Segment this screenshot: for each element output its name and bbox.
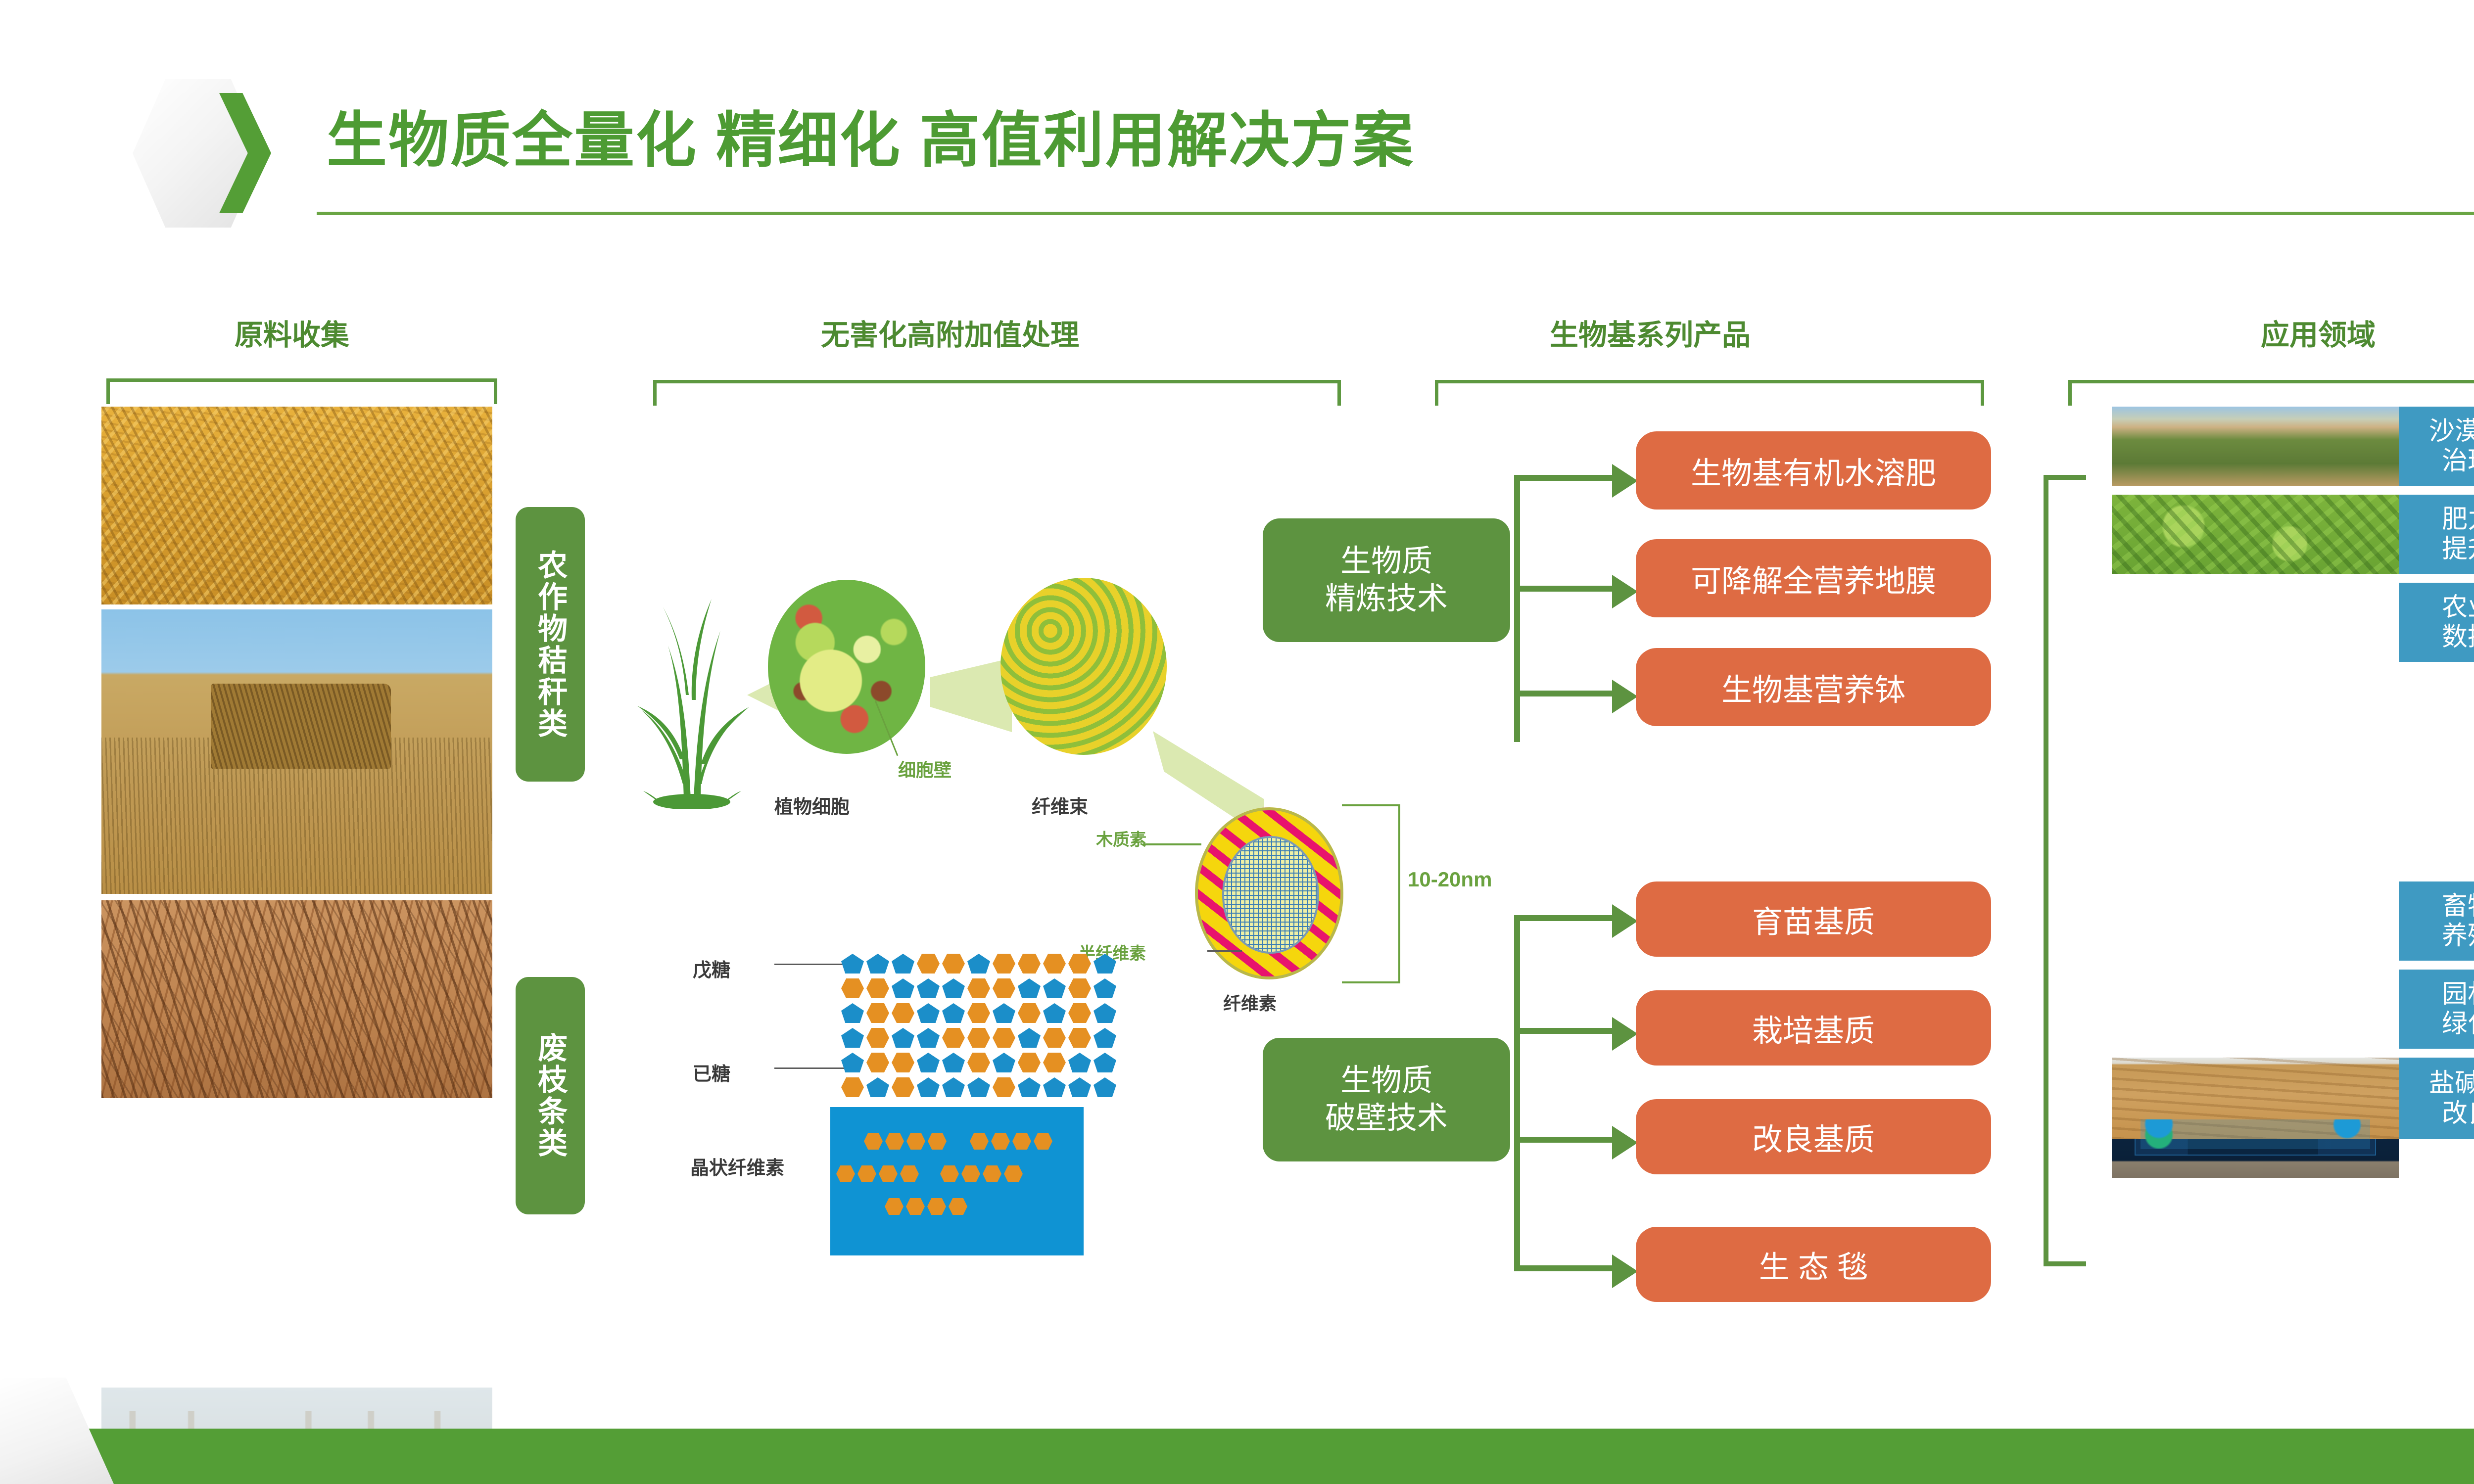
connector-branch-5	[1514, 1028, 1613, 1034]
connector-branch-3	[1514, 691, 1613, 696]
label-cell-wall: 细胞壁	[898, 756, 952, 782]
feedstock-label-branches: 废枝条类	[516, 977, 585, 1214]
feedstock-label-straw: 农作物秸秆类	[516, 507, 585, 782]
application-tag-desert[interactable]: 沙漠化 治理	[2399, 407, 2474, 486]
hexose-leader-line	[774, 1067, 849, 1069]
hemicellulose-leader-line	[1207, 950, 1242, 952]
arrow-head-4	[1612, 904, 1638, 938]
fiber-bundle-illustration	[1000, 578, 1167, 755]
product-pill-7[interactable]: 生 态 毯	[1636, 1227, 1991, 1302]
photo-chopped-straw	[101, 407, 492, 604]
application-tag-data[interactable]: 农业 数据	[2399, 583, 2474, 662]
section-header-apps: 应用领域	[2165, 312, 2472, 353]
plant-cell-illustration	[768, 580, 925, 754]
arrow-head-5	[1612, 1017, 1638, 1051]
tech-box-refining[interactable]: 生物质 精炼技术	[1263, 518, 1510, 642]
label-fiber-bundle: 纤维束	[1032, 791, 1088, 819]
label-plant-cell: 植物细胞	[774, 791, 850, 819]
arrow-head-7	[1612, 1254, 1638, 1288]
connector-branch-2	[1514, 586, 1613, 592]
sugar-chain-row	[841, 954, 1116, 974]
section-bracket-process	[653, 380, 1341, 406]
connector-branch-7	[1514, 1265, 1613, 1271]
sugar-chain-row	[841, 978, 1116, 998]
title-divider	[317, 212, 2474, 215]
label-hexose: 已糖	[693, 1059, 730, 1086]
zoom-cone-2	[930, 658, 1012, 732]
app-tag-line2: 绿化	[2442, 1009, 2474, 1039]
application-tag-saline[interactable]: 盐碱地 改良	[2399, 1058, 2474, 1139]
product-pill-1[interactable]: 生物基有机水溶肥	[1636, 431, 1991, 510]
arrow-head-3	[1612, 680, 1638, 713]
connector-trunk-refining	[1514, 475, 1520, 742]
sugar-chain-row	[841, 1003, 1116, 1023]
product-pill-5[interactable]: 栽培基质	[1636, 990, 1991, 1066]
application-tag-livestock[interactable]: 畜牧 养殖	[2399, 881, 2474, 961]
cellulose-core	[1222, 836, 1319, 954]
sugar-chain-row	[841, 1077, 1116, 1097]
section-header-products: 生物基系列产品	[1462, 312, 1838, 353]
connector-branch-4	[1514, 915, 1613, 921]
product-pill-6[interactable]: 改良基质	[1636, 1099, 1991, 1174]
sugar-chain-row	[841, 1028, 1116, 1048]
application-tag-fertility[interactable]: 肥力 提升	[2399, 495, 2474, 574]
app-tag-line1: 畜牧	[2442, 891, 2474, 921]
application-bracket	[2044, 475, 2086, 1266]
infographic-slide: 生物质全量化 精细化 高值利用解决方案 原料收集 无害化高附加值处理 生物基系列…	[0, 0, 2474, 1484]
tech-wallbreak-line2: 破壁技术	[1325, 1100, 1448, 1137]
tech-refining-line2: 精炼技术	[1325, 580, 1448, 618]
hexagon-chevron-icon	[133, 79, 281, 228]
dim-vertical-line	[1398, 804, 1400, 983]
product-pill-2[interactable]: 可降解全营养地膜	[1636, 539, 1991, 617]
photo-desert-control	[2112, 407, 2399, 486]
section-header-collect: 原料收集	[183, 312, 401, 353]
photo-cabbage-field	[2112, 495, 2399, 574]
app-tag-line2: 数据	[2442, 622, 2474, 652]
label-lignin: 木质素	[1096, 826, 1146, 850]
app-tag-line2: 治理	[2442, 446, 2474, 476]
product-pill-3[interactable]: 生物基营养钵	[1636, 648, 1991, 726]
arrow-head-1	[1612, 464, 1638, 498]
section-bracket-products	[1435, 380, 1984, 406]
tech-box-wallbreak[interactable]: 生物质 破壁技术	[1263, 1038, 1510, 1161]
label-pentose: 戊糖	[693, 955, 730, 982]
section-bracket-collect	[106, 378, 497, 404]
sugar-chain-row	[841, 1053, 1116, 1072]
pentose-leader-line	[774, 964, 849, 965]
app-tag-line1: 园林	[2442, 979, 2474, 1009]
app-tag-line2: 改良	[2442, 1099, 2474, 1128]
photo-pruned-branches	[101, 900, 492, 1098]
connector-trunk-wallbreak	[1514, 915, 1520, 1271]
arrow-head-2	[1612, 575, 1638, 608]
dim-top-tick	[1342, 804, 1400, 806]
dim-bottom-tick	[1342, 981, 1400, 983]
section-header-process: 无害化高附加值处理	[732, 312, 1168, 353]
connector-branch-6	[1514, 1137, 1613, 1143]
page-title: 生物质全量化 精细化 高值利用解决方案	[327, 92, 1415, 179]
label-crystalline-cellulose: 晶状纤维素	[690, 1153, 784, 1180]
crystalline-cellulose-panel	[830, 1107, 1084, 1255]
arrow-head-6	[1612, 1126, 1638, 1159]
product-pill-4[interactable]: 育苗基质	[1636, 881, 1991, 957]
label-fibril-dimension: 10-20nm	[1408, 868, 1492, 891]
app-tag-line1: 肥力	[2442, 505, 2474, 534]
lignin-leader-line	[1143, 843, 1201, 845]
app-tag-line2: 提升	[2442, 534, 2474, 564]
footer-bar	[0, 1429, 2474, 1484]
tech-wallbreak-line1: 生物质	[1340, 1062, 1432, 1100]
app-tag-line1: 盐碱地	[2429, 1068, 2474, 1098]
photo-straw-bale	[101, 609, 492, 894]
tech-refining-line1: 生物质	[1340, 543, 1432, 580]
application-tag-garden[interactable]: 园林 绿化	[2399, 970, 2474, 1049]
plant-silhouette-icon	[632, 552, 751, 809]
app-tag-line1: 农业	[2442, 593, 2474, 622]
connector-branch-1	[1514, 475, 1613, 481]
section-bracket-apps	[2068, 380, 2474, 406]
app-tag-line2: 养殖	[2442, 921, 2474, 951]
label-cellulose: 纤维素	[1223, 989, 1277, 1015]
app-tag-line1: 沙漠化	[2429, 417, 2474, 446]
